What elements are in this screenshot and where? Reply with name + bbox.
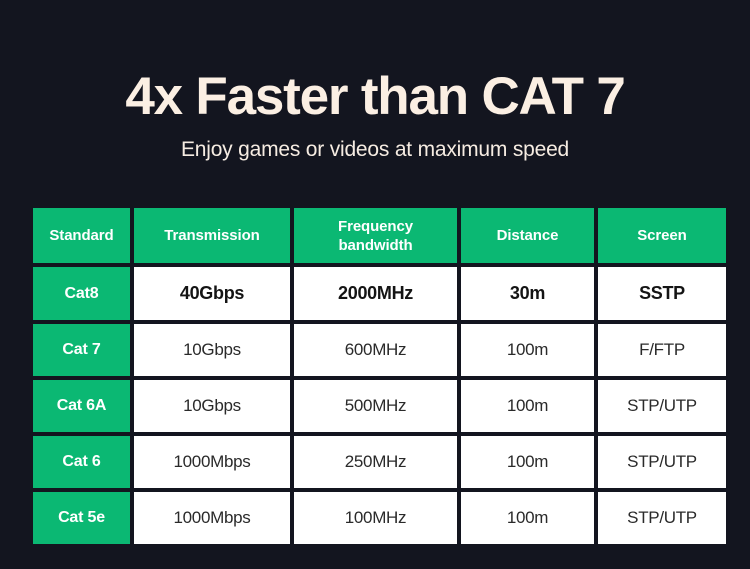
- column-header-frequency-line2: bandwidth: [338, 236, 413, 255]
- heading-block: 4x Faster than CAT 7 Enjoy games or vide…: [0, 66, 750, 163]
- cell-screen: STP/UTP: [598, 380, 726, 432]
- cell-frequency: 100MHz: [294, 492, 457, 544]
- cell-transmission: 1000Mbps: [134, 492, 290, 544]
- column-header-frequency-bandwidth: Frequency bandwidth: [294, 208, 457, 263]
- column-header-distance-line1: Distance: [497, 226, 559, 245]
- page-subtitle: Enjoy games or videos at maximum speed: [0, 137, 750, 163]
- column-header-transmission: Transmission: [134, 208, 290, 263]
- cell-distance: 30m: [461, 267, 594, 320]
- specification-table: Standard Transmission Frequency bandwidt…: [33, 208, 718, 544]
- table-row: Cat 7 10Gbps 600MHz 100m F/FTP: [33, 324, 718, 376]
- column-header-standard: Standard: [33, 208, 130, 263]
- table-row: Cat 6A 10Gbps 500MHz 100m STP/UTP: [33, 380, 718, 432]
- cell-standard: Cat 5e: [33, 492, 130, 544]
- cell-transmission: 10Gbps: [134, 324, 290, 376]
- cell-transmission: 40Gbps: [134, 267, 290, 320]
- cell-standard: Cat 6A: [33, 380, 130, 432]
- cell-standard: Cat 6: [33, 436, 130, 488]
- column-header-frequency-line1: Frequency: [338, 217, 413, 236]
- cell-distance: 100m: [461, 436, 594, 488]
- cell-transmission: 1000Mbps: [134, 436, 290, 488]
- page-title: 4x Faster than CAT 7: [0, 66, 750, 128]
- table-row: Cat 5e 1000Mbps 100MHz 100m STP/UTP: [33, 492, 718, 544]
- column-header-screen-line1: Screen: [637, 226, 686, 245]
- cell-frequency: 600MHz: [294, 324, 457, 376]
- column-header-standard-line1: Standard: [49, 226, 113, 245]
- cell-distance: 100m: [461, 492, 594, 544]
- cell-transmission: 10Gbps: [134, 380, 290, 432]
- table-row: Cat8 40Gbps 2000MHz 30m SSTP: [33, 267, 718, 320]
- column-header-screen: Screen: [598, 208, 726, 263]
- cell-frequency: 250MHz: [294, 436, 457, 488]
- cell-distance: 100m: [461, 324, 594, 376]
- cell-standard: Cat8: [33, 267, 130, 320]
- promo-poster: 4x Faster than CAT 7 Enjoy games or vide…: [0, 0, 750, 569]
- cell-screen: SSTP: [598, 267, 726, 320]
- cell-screen: STP/UTP: [598, 492, 726, 544]
- cell-screen: STP/UTP: [598, 436, 726, 488]
- cell-standard: Cat 7: [33, 324, 130, 376]
- cell-frequency: 500MHz: [294, 380, 457, 432]
- cell-frequency: 2000MHz: [294, 267, 457, 320]
- column-header-distance: Distance: [461, 208, 594, 263]
- cell-screen: F/FTP: [598, 324, 726, 376]
- table-row: Cat 6 1000Mbps 250MHz 100m STP/UTP: [33, 436, 718, 488]
- cell-distance: 100m: [461, 380, 594, 432]
- column-header-transmission-line1: Transmission: [164, 226, 260, 245]
- table-header-row: Standard Transmission Frequency bandwidt…: [33, 208, 718, 263]
